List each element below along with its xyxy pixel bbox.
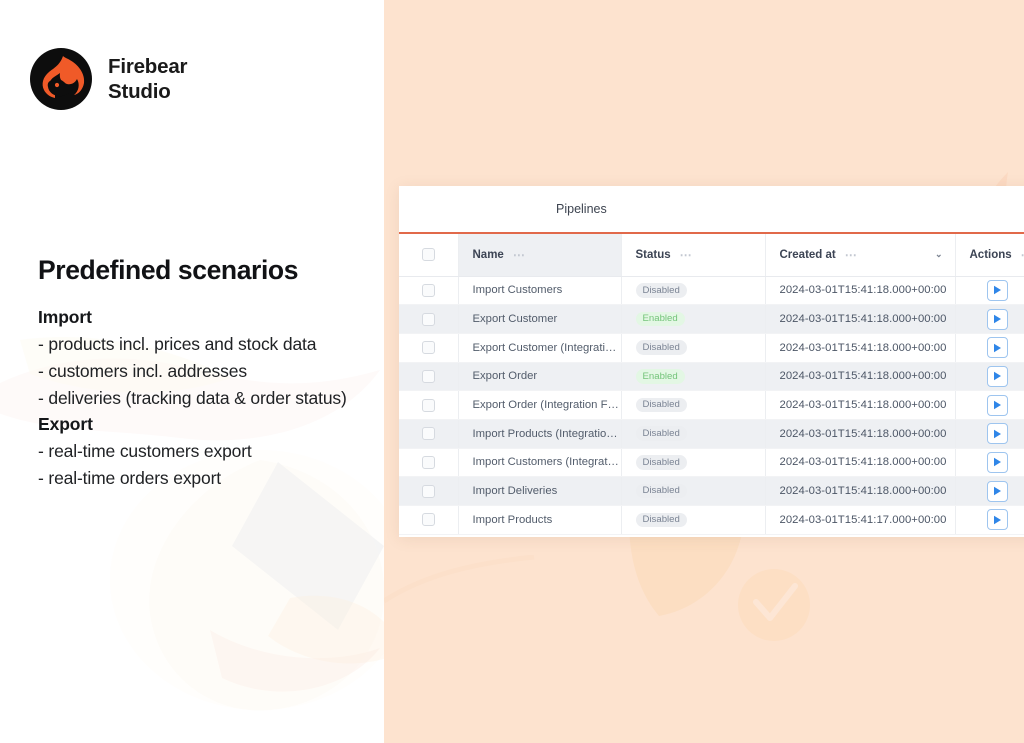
cell-created-at: 2024-03-01T15:41:18.000+00:00	[765, 276, 955, 305]
column-header-created-at-label: Created at	[780, 249, 836, 261]
row-checkbox[interactable]	[422, 513, 435, 526]
firebear-flame-logo-icon	[30, 48, 92, 110]
ellipsis-icon[interactable]: ⋯	[845, 249, 858, 261]
chevron-down-icon[interactable]: ⌄	[935, 249, 943, 260]
cell-status: Disabled	[621, 419, 765, 448]
cell-name: Import Customers (Integratio...	[458, 448, 621, 477]
row-checkbox[interactable]	[422, 399, 435, 412]
status-badge: Disabled	[636, 398, 687, 413]
play-icon	[993, 429, 1002, 439]
cell-created-at: 2024-03-01T15:41:18.000+00:00	[765, 448, 955, 477]
play-icon	[993, 343, 1002, 353]
row-select-cell[interactable]	[399, 333, 458, 362]
page-title: Predefined scenarios	[38, 255, 378, 286]
column-header-select-all[interactable]	[399, 234, 458, 276]
table-row[interactable]: Import Customers (Integratio...Disabled2…	[399, 448, 1024, 477]
column-header-name-label: Name	[473, 249, 504, 261]
status-badge: Disabled	[636, 484, 687, 499]
row-select-cell[interactable]	[399, 419, 458, 448]
table-header: Name ⋯ Status ⋯ Created at ⋯	[399, 234, 1024, 276]
table-row[interactable]: Export OrderEnabled2024-03-01T15:41:18.0…	[399, 362, 1024, 391]
cell-status: Enabled	[621, 305, 765, 334]
cell-created-at: 2024-03-01T15:41:18.000+00:00	[765, 333, 955, 362]
ellipsis-icon[interactable]: ⋯	[680, 249, 693, 261]
cell-actions[interactable]	[955, 276, 1024, 305]
row-select-cell[interactable]	[399, 477, 458, 506]
cell-actions[interactable]	[955, 305, 1024, 334]
table-row[interactable]: Export Customer (Integration...Disabled2…	[399, 333, 1024, 362]
row-select-cell[interactable]	[399, 362, 458, 391]
brand-logo: Firebear Studio	[30, 48, 187, 110]
cell-created-at: 2024-03-01T15:41:18.000+00:00	[765, 362, 955, 391]
brand-name: Firebear Studio	[108, 54, 187, 104]
decorative-streak	[384, 555, 584, 615]
row-select-cell[interactable]	[399, 506, 458, 535]
section-title-import: Import	[38, 305, 374, 331]
cell-status: Disabled	[621, 276, 765, 305]
cell-name: Export Customer (Integration...	[458, 333, 621, 362]
cell-name: Import Products	[458, 506, 621, 535]
table-row[interactable]: Export CustomerEnabled2024-03-01T15:41:1…	[399, 305, 1024, 334]
cell-created-at: 2024-03-01T15:41:18.000+00:00	[765, 477, 955, 506]
table-row[interactable]: Import CustomersDisabled2024-03-01T15:41…	[399, 276, 1024, 305]
play-icon	[993, 486, 1002, 496]
cell-status: Disabled	[621, 477, 765, 506]
ellipsis-icon[interactable]: ⋯	[513, 249, 526, 261]
column-header-actions-label: Actions	[970, 249, 1012, 261]
column-header-actions[interactable]: Actions ⋯	[955, 234, 1024, 276]
cell-status: Disabled	[621, 506, 765, 535]
status-badge: Disabled	[636, 513, 687, 528]
run-pipeline-button[interactable]	[987, 280, 1008, 301]
row-select-cell[interactable]	[399, 305, 458, 334]
cell-status: Disabled	[621, 333, 765, 362]
table-row[interactable]: Import DeliveriesDisabled2024-03-01T15:4…	[399, 477, 1024, 506]
row-checkbox[interactable]	[422, 427, 435, 440]
cell-status: Disabled	[621, 448, 765, 477]
status-badge: Disabled	[636, 426, 687, 441]
cell-name: Export Customer	[458, 305, 621, 334]
list-item: - products incl. prices and stock data	[38, 331, 374, 358]
cell-name: Export Order (Integration Fra...	[458, 391, 621, 420]
play-icon	[993, 515, 1002, 525]
column-header-status-label: Status	[636, 249, 671, 261]
pipelines-table-card: Pipelines Name ⋯	[399, 186, 1024, 537]
left-content-panel: Firebear Studio Predefined scenarios Imp…	[0, 0, 384, 743]
cell-actions[interactable]	[955, 477, 1024, 506]
status-badge: Disabled	[636, 455, 687, 470]
run-pipeline-button[interactable]	[987, 395, 1008, 416]
cell-name: Import Deliveries	[458, 477, 621, 506]
column-header-status[interactable]: Status ⋯	[621, 234, 765, 276]
run-pipeline-button[interactable]	[987, 452, 1008, 473]
column-header-name[interactable]: Name ⋯	[458, 234, 621, 276]
play-icon	[993, 371, 1002, 381]
cell-created-at: 2024-03-01T15:41:18.000+00:00	[765, 305, 955, 334]
row-checkbox[interactable]	[422, 341, 435, 354]
pipelines-table: Name ⋯ Status ⋯ Created at ⋯	[399, 234, 1024, 535]
cell-actions[interactable]	[955, 419, 1024, 448]
row-checkbox[interactable]	[422, 313, 435, 326]
select-all-checkbox[interactable]	[422, 248, 435, 261]
row-select-cell[interactable]	[399, 391, 458, 420]
play-icon	[993, 457, 1002, 467]
cell-name: Export Order	[458, 362, 621, 391]
list-item: - deliveries (tracking data & order stat…	[38, 385, 374, 412]
table-body: Import CustomersDisabled2024-03-01T15:41…	[399, 276, 1024, 534]
cell-created-at: 2024-03-01T15:41:18.000+00:00	[765, 419, 955, 448]
column-header-created-at[interactable]: Created at ⋯ ⌄	[765, 234, 955, 276]
tab-pipelines[interactable]: Pipelines	[542, 185, 621, 233]
cell-actions[interactable]	[955, 506, 1024, 535]
run-pipeline-button[interactable]	[987, 481, 1008, 502]
list-item: - real-time customers export	[38, 438, 374, 465]
run-pipeline-button[interactable]	[987, 423, 1008, 444]
cell-status: Disabled	[621, 391, 765, 420]
cell-created-at: 2024-03-01T15:41:18.000+00:00	[765, 391, 955, 420]
table-header-row: Name ⋯ Status ⋯ Created at ⋯	[399, 234, 1024, 276]
slide-root: Firebear Studio Predefined scenarios Imp…	[0, 0, 1024, 743]
row-checkbox[interactable]	[422, 456, 435, 469]
table-row[interactable]: Export Order (Integration Fra...Disabled…	[399, 391, 1024, 420]
cell-actions[interactable]	[955, 448, 1024, 477]
play-icon	[993, 285, 1002, 295]
decorative-check-circle	[729, 560, 819, 650]
cell-actions[interactable]	[955, 391, 1024, 420]
list-item: - real-time orders export	[38, 465, 374, 492]
status-badge: Disabled	[636, 283, 687, 298]
play-icon	[993, 400, 1002, 410]
cell-actions[interactable]	[955, 333, 1024, 362]
status-badge: Enabled	[636, 369, 685, 384]
cell-status: Enabled	[621, 362, 765, 391]
table-row[interactable]: Import ProductsDisabled2024-03-01T15:41:…	[399, 506, 1024, 535]
row-checkbox[interactable]	[422, 284, 435, 297]
cell-actions[interactable]	[955, 362, 1024, 391]
cell-created-at: 2024-03-01T15:41:17.000+00:00	[765, 506, 955, 535]
cell-name: Import Products (Integration ...	[458, 419, 621, 448]
status-badge: Disabled	[636, 340, 687, 355]
run-pipeline-button[interactable]	[987, 509, 1008, 530]
row-select-cell[interactable]	[399, 448, 458, 477]
cell-name: Import Customers	[458, 276, 621, 305]
list-item: - customers incl. addresses	[38, 358, 374, 385]
scenario-sections: Import - products incl. prices and stock…	[38, 305, 374, 492]
row-select-cell[interactable]	[399, 276, 458, 305]
run-pipeline-button[interactable]	[987, 366, 1008, 387]
run-pipeline-button[interactable]	[987, 337, 1008, 358]
section-title-export: Export	[38, 412, 374, 438]
status-badge: Enabled	[636, 312, 685, 327]
row-checkbox[interactable]	[422, 485, 435, 498]
play-icon	[993, 314, 1002, 324]
run-pipeline-button[interactable]	[987, 309, 1008, 330]
row-checkbox[interactable]	[422, 370, 435, 383]
table-row[interactable]: Import Products (Integration ...Disabled…	[399, 419, 1024, 448]
tab-bar: Pipelines	[399, 186, 1024, 234]
